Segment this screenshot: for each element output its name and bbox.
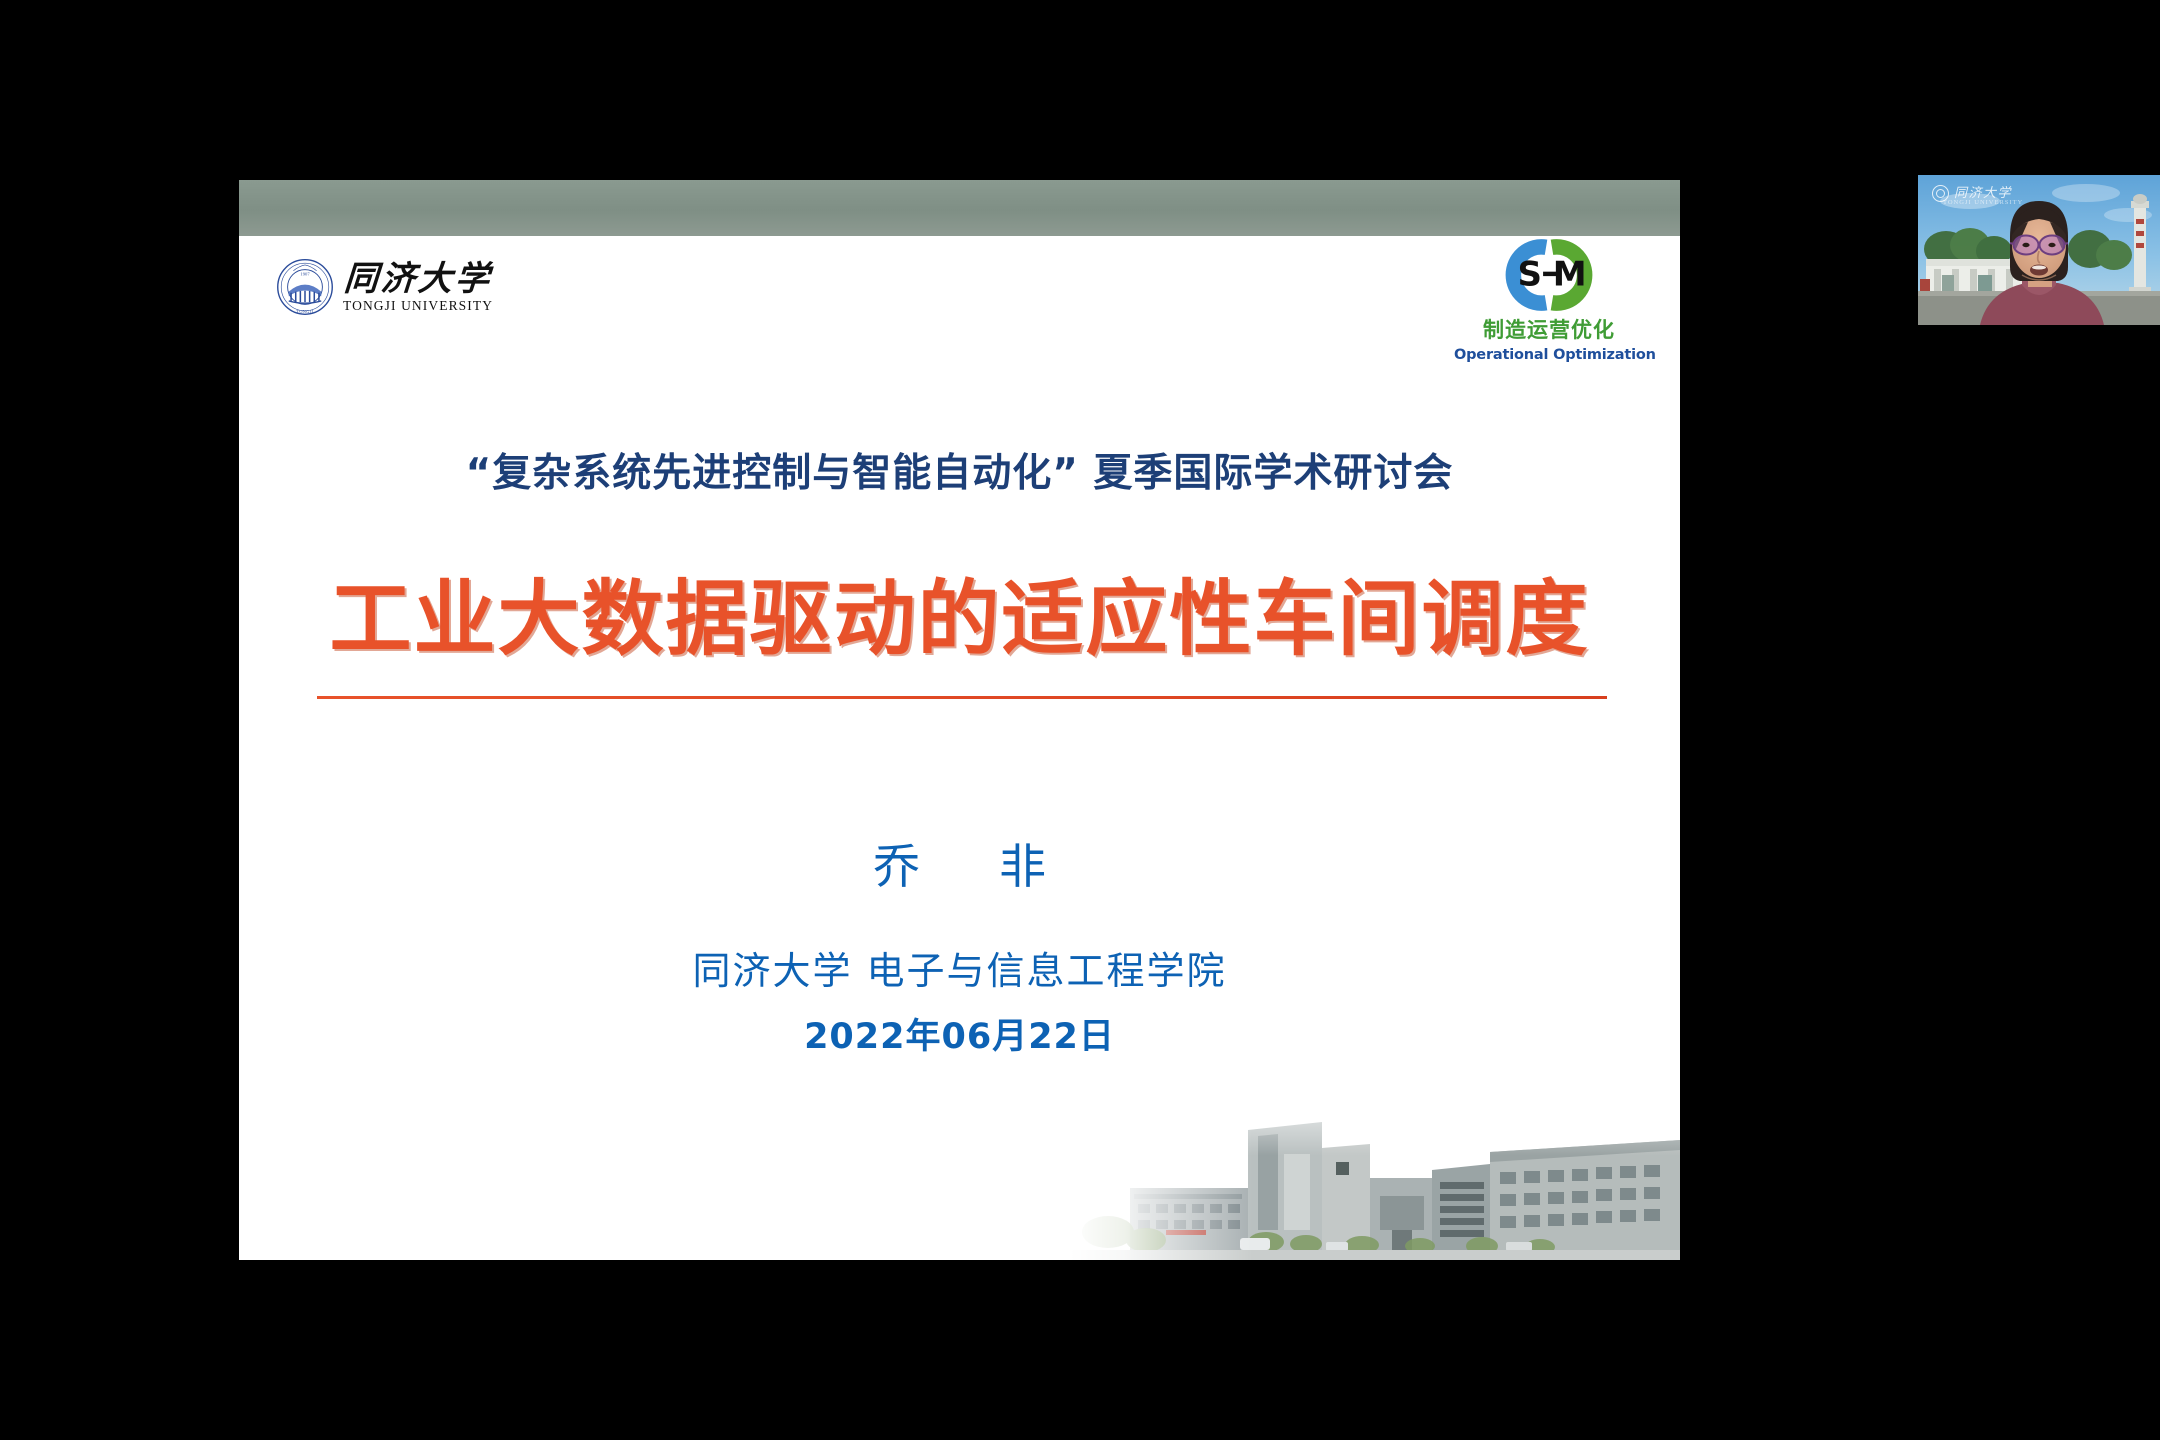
presentation-date: 2022年06月22日 [239, 1008, 1680, 1059]
slide-header-bar [239, 180, 1680, 236]
meeting-screen: 1907 TONGJI 同济大学 TONGJI UNIVERSITY S M 制… [0, 0, 2160, 1440]
sm-tagline-en: Operational Optimization [1454, 347, 1644, 363]
title-underline-rule [317, 696, 1607, 699]
svg-text:TONGJI: TONGJI [296, 309, 313, 314]
operational-optimization-logo: S M 制造运营优化 Operational Optimization [1454, 232, 1644, 363]
sm-monogram-icon: S M [1475, 232, 1623, 318]
svg-text:1907: 1907 [300, 272, 310, 277]
slide-main-title: 工业大数据驱动的适应性车间调度 [239, 552, 1680, 671]
svg-text:M: M [1553, 255, 1587, 295]
conference-subtitle: “复杂系统先进控制与智能自动化” 夏季国际学术研讨会 [239, 442, 1680, 498]
campus-building-photo [1070, 1070, 1680, 1260]
presenter-affiliation: 同济大学 电子与信息工程学院 [239, 940, 1680, 995]
speaker-video-thumbnail[interactable]: 同济大学 TONGJI UNIVERSITY [1918, 175, 2160, 325]
tongji-university-logo: 1907 TONGJI 同济大学 TONGJI UNIVERSITY [276, 258, 493, 316]
tongji-wordmark-cn: 同济大学 [343, 262, 493, 296]
presenter-name: 乔 非 [239, 828, 1680, 897]
tongji-seal-icon: 1907 TONGJI [276, 258, 334, 316]
campus-photo-fade [1070, 1070, 1680, 1260]
tongji-wordmark-en: TONGJI UNIVERSITY [343, 299, 493, 313]
sm-tagline-cn: 制造运营优化 [1454, 314, 1644, 344]
presentation-slide: 1907 TONGJI 同济大学 TONGJI UNIVERSITY S M 制… [239, 180, 1680, 1260]
tongji-wordmark: 同济大学 TONGJI UNIVERSITY [343, 262, 493, 313]
webcam-overlay-logo-en: TONGJI UNIVERSITY [1943, 199, 2023, 206]
svg-text:S: S [1518, 255, 1543, 295]
